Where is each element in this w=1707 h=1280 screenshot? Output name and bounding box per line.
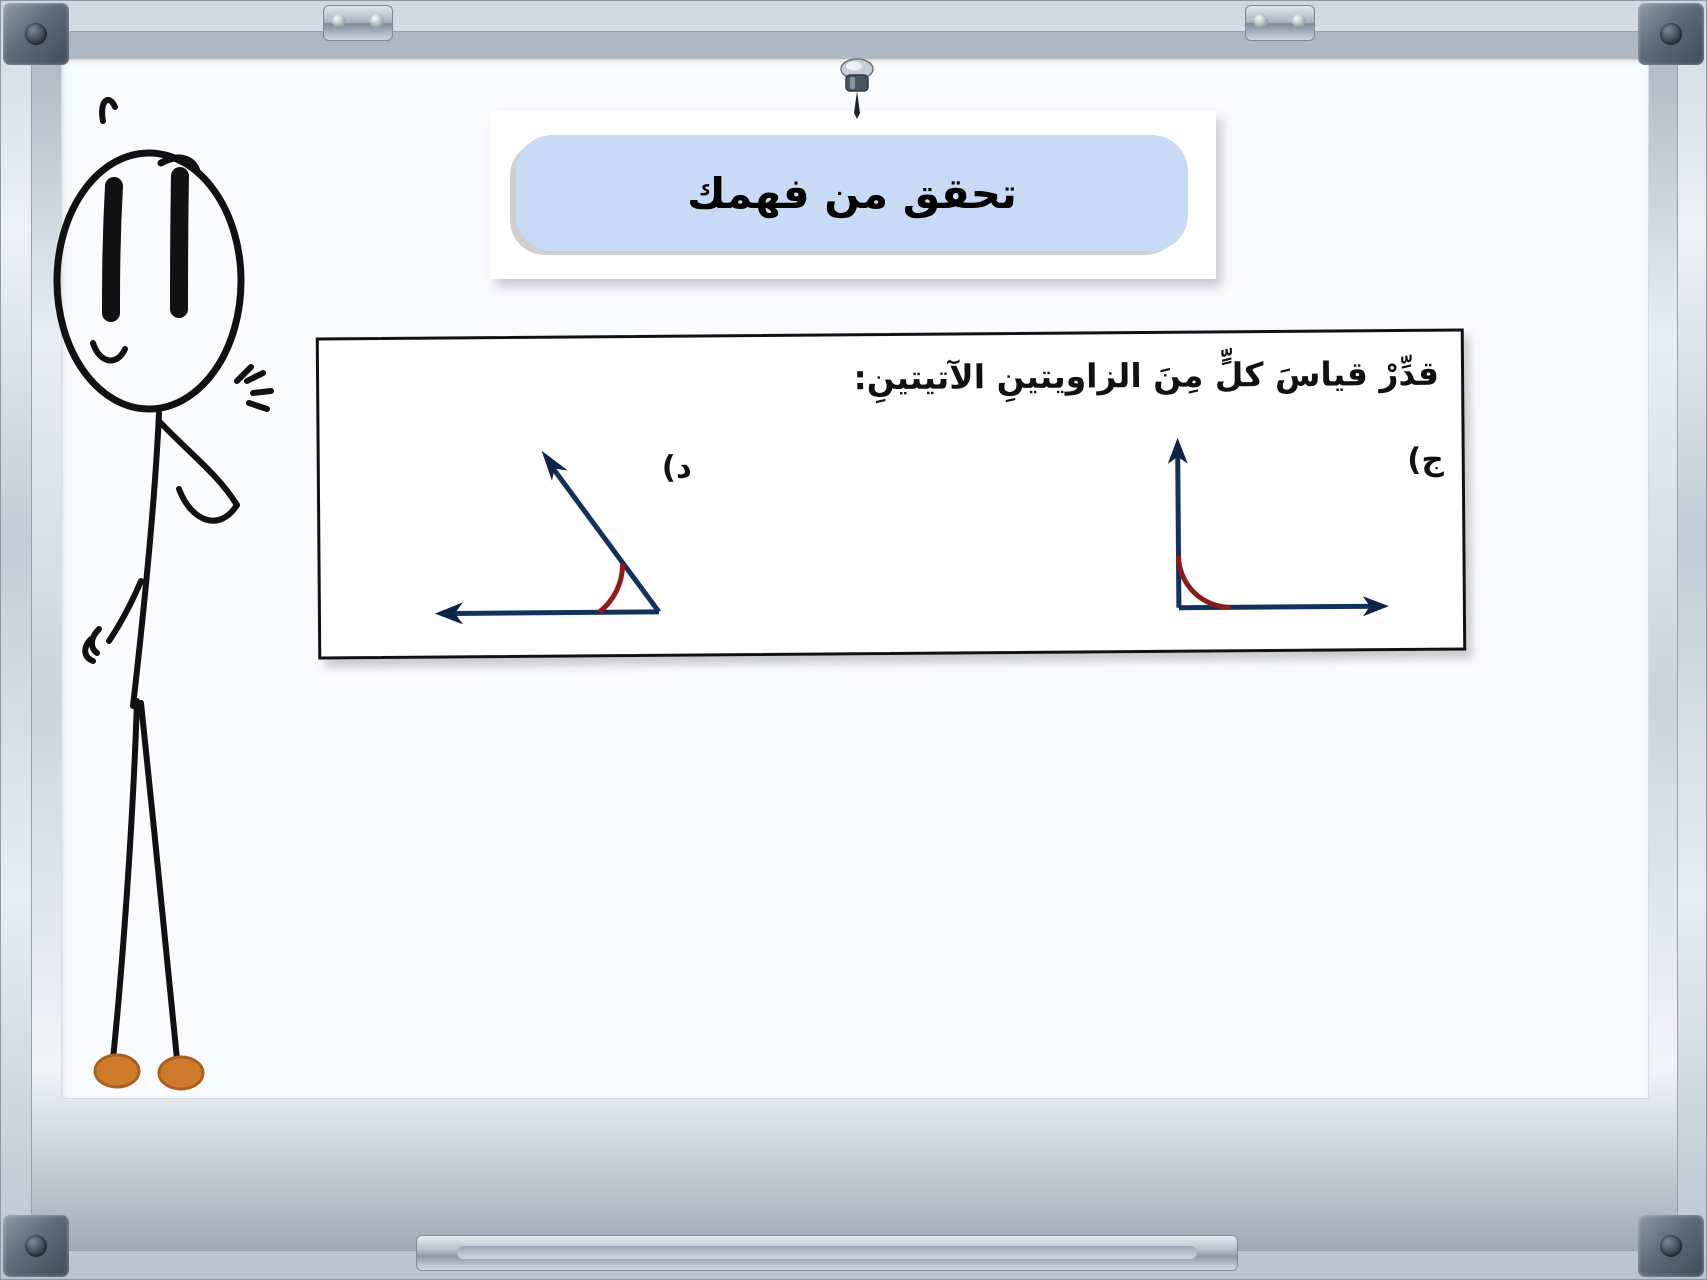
page-title: تحقق من فهمك: [516, 135, 1188, 251]
board-clip-icon: [323, 5, 393, 41]
title-pill: تحقق من فهمك: [516, 135, 1188, 251]
angle-diagram-right-angle: [1142, 428, 1403, 620]
pen-tray-slot: [457, 1246, 1197, 1259]
question-card: قدِّرْ قياسَ كلٍّ مِنَ الزاويتينِ الآتيت…: [316, 328, 1466, 659]
angle-diagram-acute-angle: [412, 434, 693, 626]
pen-tray: [416, 1235, 1238, 1271]
thumbtack-icon: [834, 57, 880, 123]
stick-figure-drawing: [41, 81, 321, 1091]
whiteboard-frame: تحقق من فهمك قدِّرْ قياسَ كلٍّ مِنَ الزا…: [0, 0, 1707, 1280]
corner-bracket-icon: [1638, 1215, 1704, 1277]
question-prompt: قدِّرْ قياسَ كلٍّ مِنَ الزاويتينِ الآتيت…: [853, 354, 1439, 398]
corner-bracket-icon: [3, 3, 69, 65]
part-label-c: ج): [1407, 442, 1444, 478]
corner-bracket-icon: [3, 1215, 69, 1277]
board-clip-icon: [1245, 5, 1315, 41]
title-card: تحقق من فهمك: [490, 111, 1216, 279]
corner-bracket-icon: [1638, 3, 1704, 65]
